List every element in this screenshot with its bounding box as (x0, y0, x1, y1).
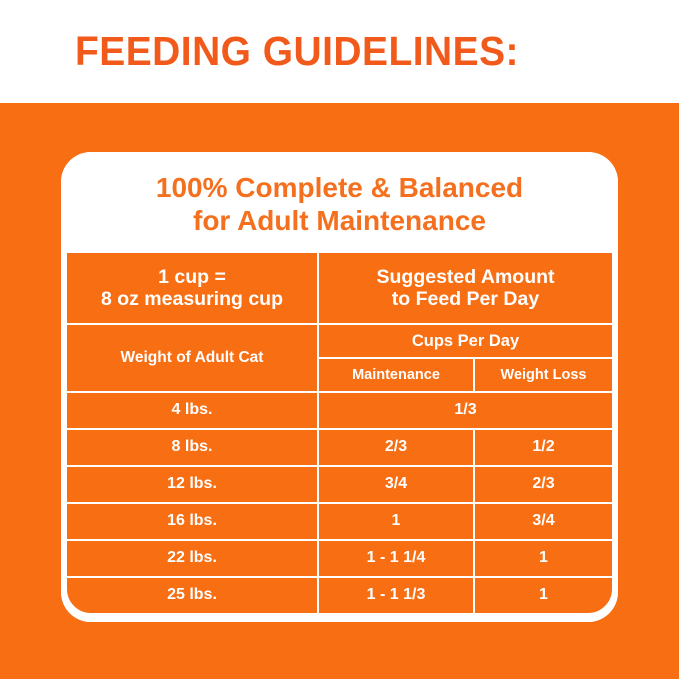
cell-weight-loss-amount: 1/2 (474, 429, 613, 466)
card-heading-line-2: for Adult Maintenance (193, 204, 486, 237)
card-heading-line-1: 100% Complete & Balanced (156, 171, 523, 204)
cell-weight-loss-amount: 1 (474, 540, 613, 577)
cup-definition-cell: 1 cup = 8 oz measuring cup (66, 252, 318, 324)
table-header-rows: Weight of Adult Cat Cups Per Day Mainten… (66, 324, 613, 392)
suggested-amount-line-2: to Feed Per Day (376, 288, 554, 310)
table-body: 4 lbs.1/38 lbs.2/31/212 lbs.3/42/316 lbs… (66, 392, 613, 614)
cell-weight-loss-amount: 2/3 (474, 466, 613, 503)
cell-weight: 8 lbs. (66, 429, 318, 466)
cell-weight: 12 lbs. (66, 466, 318, 503)
cups-per-day-header-group: Cups Per Day Maintenance Weight Loss (318, 324, 613, 392)
cup-definition-line-2: 8 oz measuring cup (101, 288, 283, 310)
cell-maintenance-amount: 1 - 1 1/4 (318, 540, 474, 577)
column-header-cups-per-day: Cups Per Day (318, 324, 613, 358)
cell-weight: 4 lbs. (66, 392, 318, 429)
suggested-amount-line-1: Suggested Amount (376, 266, 554, 288)
column-header-weight-loss: Weight Loss (474, 358, 613, 392)
column-header-maintenance: Maintenance (318, 358, 474, 392)
table-row: 12 lbs.3/42/3 (66, 466, 613, 503)
feeding-chart-card: 100% Complete & Balanced for Adult Maint… (61, 152, 618, 622)
cell-maintenance-amount: 2/3 (318, 429, 474, 466)
title-band: FEEDING GUIDELINES: (0, 0, 679, 103)
cups-per-day-subheaders: Maintenance Weight Loss (318, 358, 613, 392)
table-row-intro: 1 cup = 8 oz measuring cup Suggested Amo… (66, 252, 613, 324)
cup-definition-line-1: 1 cup = (101, 266, 283, 288)
cell-maintenance-amount: 1 - 1 1/3 (318, 577, 474, 614)
cell-weight-loss-amount: 3/4 (474, 503, 613, 540)
card-heading: 100% Complete & Balanced for Adult Maint… (61, 152, 618, 252)
table-row: 25 lbs.1 - 1 1/31 (66, 577, 613, 614)
suggested-amount-cell: Suggested Amount to Feed Per Day (318, 252, 613, 324)
page-title: FEEDING GUIDELINES: (75, 28, 519, 75)
cell-weight-loss-amount: 1 (474, 577, 613, 614)
cell-amount-merged: 1/3 (318, 392, 613, 429)
feeding-table: 1 cup = 8 oz measuring cup Suggested Amo… (61, 252, 618, 622)
cell-weight: 22 lbs. (66, 540, 318, 577)
table-row: 16 lbs.13/4 (66, 503, 613, 540)
cell-weight: 16 lbs. (66, 503, 318, 540)
table-row: 4 lbs.1/3 (66, 392, 613, 429)
table-row: 22 lbs.1 - 1 1/41 (66, 540, 613, 577)
feeding-guidelines-page: FEEDING GUIDELINES: 100% Complete & Bala… (0, 0, 679, 679)
cell-weight: 25 lbs. (66, 577, 318, 614)
table-row: 8 lbs.2/31/2 (66, 429, 613, 466)
column-header-weight-of-adult-cat: Weight of Adult Cat (66, 324, 318, 392)
cell-maintenance-amount: 3/4 (318, 466, 474, 503)
cell-maintenance-amount: 1 (318, 503, 474, 540)
